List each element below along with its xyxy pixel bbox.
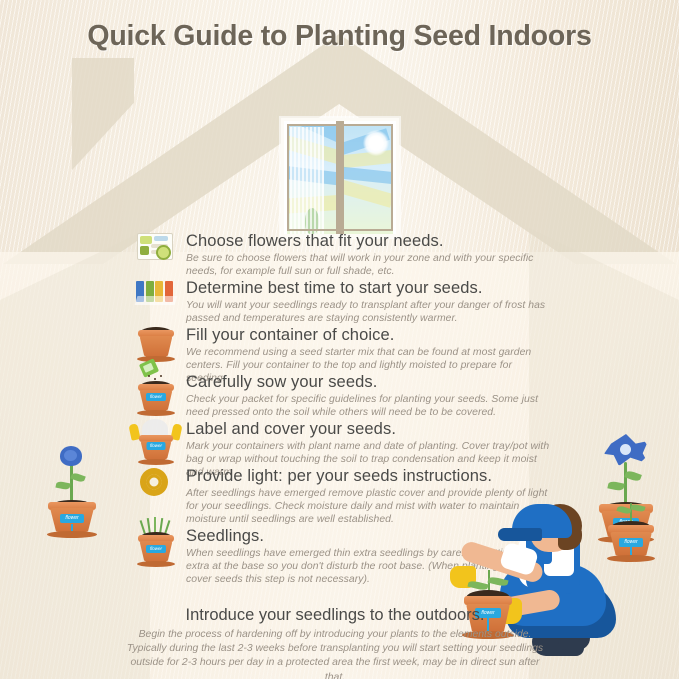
footer-body: Begin the process of hardening off by in… xyxy=(120,628,550,679)
pot-saucer xyxy=(137,356,175,362)
plant-leaf xyxy=(487,576,508,588)
pot-body xyxy=(140,336,173,357)
step-item-3: Fill your container of choice. We recomm… xyxy=(134,325,554,371)
sun-light-icon xyxy=(134,466,182,514)
pot-tag-label: flower xyxy=(146,393,166,401)
sun-glow-icon xyxy=(363,130,389,156)
pot-tag-label: flower xyxy=(146,545,166,553)
step-heading: Determine best time to start your seeds. xyxy=(186,278,554,298)
window-curtain xyxy=(290,127,324,234)
step-item-4: flower Carefully sow your seeds. Check y… xyxy=(134,372,554,418)
pot-saucer xyxy=(138,459,174,465)
pot-tag-label: flower xyxy=(60,514,84,523)
pot-saucer xyxy=(137,410,175,416)
sowing-seeds-icon: flower xyxy=(134,372,182,420)
covered-pot-with-gloves-icon: flower xyxy=(134,419,182,467)
pot-saucer xyxy=(137,561,175,567)
plant-leaf xyxy=(607,480,624,491)
pot-rim xyxy=(139,435,173,442)
window-pane-right xyxy=(344,124,393,234)
pot-tag-label: flower xyxy=(147,442,166,450)
plant-leaf xyxy=(624,470,642,483)
window-mullion xyxy=(336,121,344,234)
step-item-5: flower Label and cover your seeds. Mark … xyxy=(134,419,554,465)
step-body: You will want your seedlings ready to tr… xyxy=(186,299,554,325)
footer-heading: Introduce your seedlings to the outdoors… xyxy=(120,605,550,625)
pot-rim xyxy=(138,384,174,391)
plant-leaf xyxy=(55,481,70,491)
blue-flower-center xyxy=(620,444,631,455)
step-heading: Label and cover your seeds. xyxy=(186,419,554,439)
seedling-pot-icon: flower xyxy=(134,526,182,574)
step-heading: Choose flowers that fit your needs. xyxy=(186,231,554,251)
step-heading: Provide light: per your seeds instructio… xyxy=(186,466,554,486)
pot-rim xyxy=(464,596,512,605)
seed-catalog-icon xyxy=(134,231,182,279)
step-body: Be sure to choose flowers that will work… xyxy=(186,252,554,278)
plant-leaf xyxy=(70,472,86,483)
step-heading: Carefully sow your seeds. xyxy=(186,372,554,392)
page-title: Quick Guide to Planting Seed Indoors xyxy=(0,20,679,53)
window-with-sunlight-icon xyxy=(281,118,399,237)
seed-packets-icon xyxy=(134,278,182,326)
window-pane-left xyxy=(287,124,336,234)
step-heading: Fill your container of choice. xyxy=(186,325,554,345)
infographic-poster: Quick Guide to Planting Seed Indoors xyxy=(0,0,679,679)
blue-flower-center xyxy=(64,450,77,461)
pot-rim xyxy=(138,535,174,542)
pot-saucer xyxy=(47,531,97,538)
house-chimney-shape xyxy=(72,58,134,170)
step-body: Check your packet for specific guideline… xyxy=(186,393,554,419)
step-item-1: Choose flowers that fit your needs. Be s… xyxy=(134,231,554,277)
step-item-2: Determine best time to start your seeds.… xyxy=(134,278,554,324)
gardener-cap-brim xyxy=(498,528,542,541)
potted-blue-flower-left: flower xyxy=(40,438,104,538)
pot-rim xyxy=(138,330,174,337)
footer-block: Introduce your seedlings to the outdoors… xyxy=(120,605,550,679)
